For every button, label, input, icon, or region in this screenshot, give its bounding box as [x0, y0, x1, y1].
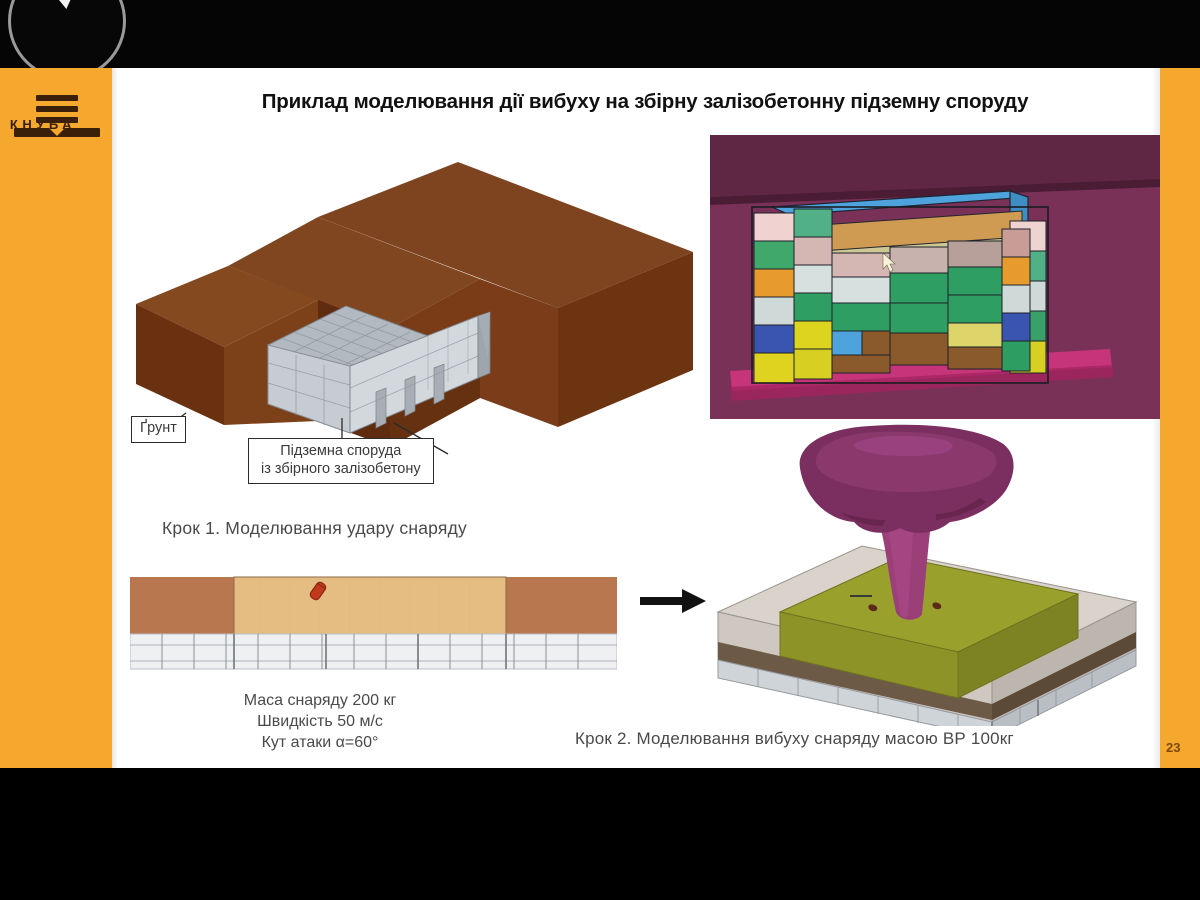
soil-block-svg	[128, 140, 696, 470]
projectile-specs: Маса снаряду 200 кг Швидкість 50 м/с Кут…	[175, 690, 465, 753]
callout-structure-line2: із збірного залізобетону	[261, 461, 421, 479]
slide-left-accent-band	[0, 68, 112, 768]
figure-3d-soil-block	[128, 140, 696, 470]
left-band-shadow	[112, 68, 118, 768]
spec-mass: Маса снаряду 200 кг	[175, 690, 465, 711]
cross-section-svg	[130, 573, 617, 673]
figure-impact-cross-section	[130, 573, 617, 673]
spec-velocity: Швидкість 50 м/с	[175, 711, 465, 732]
screen: КНУБА 23 Приклад моделювання дії вибуху …	[0, 0, 1200, 900]
caption-step-2: Крок 2. Моделювання вибуху снаряду масою…	[575, 729, 1014, 749]
callout-structure: Підземна споруда із збірного залізобетон…	[248, 438, 434, 484]
slide-right-accent-band	[1160, 68, 1200, 768]
viewer-bottom-bar	[0, 768, 1200, 900]
figure-fea-model	[710, 135, 1160, 419]
page-title: Приклад моделювання дії вибуху на збірну…	[140, 90, 1150, 114]
caption-step-1: Крок 1. Моделювання удару снаряду	[162, 518, 467, 539]
fea-model-svg	[710, 135, 1160, 419]
watermark-glyph-icon	[57, 0, 83, 9]
knuba-wordmark: КНУБА	[0, 118, 86, 131]
blast-svg	[700, 416, 1162, 726]
page-number: 23	[1166, 740, 1180, 755]
callout-ground: Ґрунт	[131, 416, 186, 443]
figure-blast-simulation	[700, 416, 1162, 726]
viewer-top-bar	[0, 0, 1200, 68]
callout-structure-line1: Підземна споруда	[261, 443, 421, 461]
spec-attack-angle: Кут атаки α=60°	[175, 732, 465, 753]
slide-canvas: КНУБА 23 Приклад моделювання дії вибуху …	[0, 68, 1200, 768]
